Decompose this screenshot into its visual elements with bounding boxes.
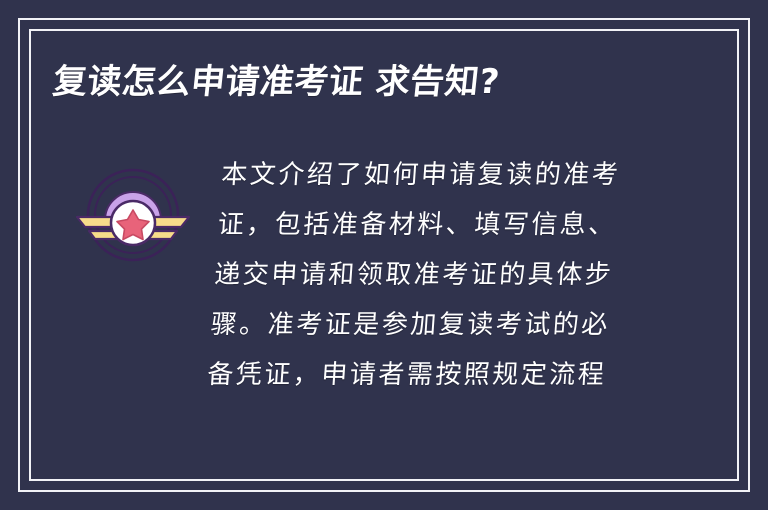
body-paragraph: 本文介绍了如何申请复读的准考证，包括准备材料、填写信息、递交申请和领取准考证的具… <box>196 150 643 400</box>
content-row: 本文介绍了如何申请复读的准考证，包括准备材料、填写信息、递交申请和领取准考证的具… <box>53 150 708 400</box>
winged-star-badge-icon <box>73 160 193 270</box>
emblem-container <box>53 150 213 270</box>
poster-canvas: 复读怎么申请准考证 求告知? 本文介绍了如何申请复读的准考证， <box>0 0 768 510</box>
page-title: 复读怎么申请准考证 求告知? <box>51 62 695 102</box>
